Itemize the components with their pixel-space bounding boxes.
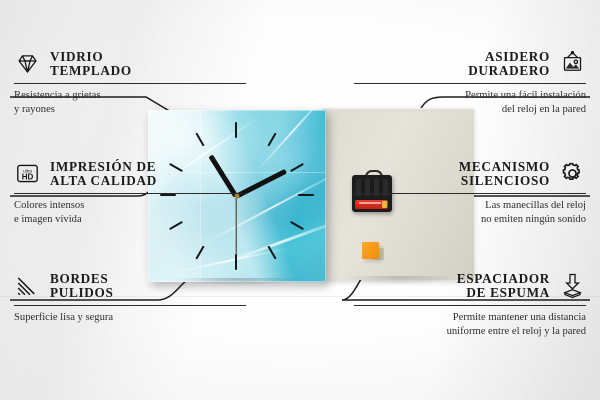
feature-header: ASIDERO DURADERO: [354, 50, 586, 78]
feature-title-line1: ASIDERO: [468, 50, 550, 64]
feature-divider: [354, 193, 586, 194]
feature-header: BORDES PULIDOS: [14, 272, 246, 300]
hanging-picture-frame-icon: [559, 50, 586, 77]
feature-divider: [354, 305, 586, 306]
gear-icon: [559, 160, 586, 187]
feature-title-line1: ESPACIADOR: [457, 272, 550, 286]
feature-title-line1: BORDES: [50, 272, 114, 286]
feature-asidero-duradero: ASIDERO DURADERO Permite una fácil insta…: [354, 50, 586, 116]
feature-subtitle: Resistencia a grietas y rayones: [14, 89, 246, 116]
feature-title-line1: IMPRESIÓN DE: [50, 160, 157, 174]
feature-title-line1: MECANISMO: [459, 160, 550, 174]
feature-subtitle-line1: Permite una fácil instalación: [465, 90, 586, 101]
feature-header: ESPACIADOR DE ESPUMA: [354, 272, 586, 300]
feature-espaciador-espuma: ESPACIADOR DE ESPUMA Permite mantener un…: [354, 272, 586, 338]
feature-mecanismo-silencioso: MECANISMO SILENCIOSO Las manecillas del …: [354, 160, 586, 226]
svg-text:HD: HD: [22, 173, 34, 182]
feature-impresion-alta-calidad: ultra HD IMPRESIÓN DE ALTA CALIDAD Color…: [14, 160, 246, 226]
feature-title-line1: VIDRIO: [50, 50, 132, 64]
feature-title-line2: ALTA CALIDAD: [50, 174, 157, 188]
ultra-hd-badge-icon: ultra HD: [14, 160, 41, 187]
feature-divider: [14, 83, 246, 84]
feature-titles: IMPRESIÓN DE ALTA CALIDAD: [50, 160, 157, 188]
feature-subtitle-line1: Colores intensos: [14, 200, 84, 211]
feature-header: ultra HD IMPRESIÓN DE ALTA CALIDAD: [14, 160, 246, 188]
feature-divider: [14, 305, 246, 306]
feature-subtitle-line1: Resistencia a grietas: [14, 90, 100, 101]
feature-titles: ASIDERO DURADERO: [468, 50, 550, 78]
feature-title-line2: DURADERO: [468, 64, 550, 78]
feature-divider: [14, 193, 246, 194]
diamond-icon: [14, 50, 41, 77]
feature-title-line2: DE ESPUMA: [457, 286, 550, 300]
feature-subtitle-line1: Superficie lisa y segura: [14, 312, 113, 323]
feature-subtitle-line2: e imagen vívida: [14, 214, 82, 225]
feature-header: VIDRIO TEMPLADO: [14, 50, 246, 78]
feature-subtitle-line1: Las manecillas del reloj: [485, 200, 586, 211]
feature-subtitle-line2: y rayones: [14, 104, 55, 115]
feature-title-line2: PULIDOS: [50, 286, 114, 300]
feature-subtitle-line2: del reloj en la pared: [502, 104, 586, 115]
feature-header: MECANISMO SILENCIOSO: [354, 160, 586, 188]
feature-subtitle-line1: Permite mantener una distancia: [453, 312, 586, 323]
feature-titles: BORDES PULIDOS: [50, 272, 114, 300]
polished-edge-icon: [14, 272, 41, 299]
feature-subtitle: Superficie lisa y segura: [14, 311, 246, 325]
arrow-onto-pad-icon: [559, 272, 586, 299]
infographic-canvas: VIDRIO TEMPLADO Resistencia a grietas y …: [0, 0, 600, 400]
feature-subtitle: Colores intensos e imagen vívida: [14, 199, 246, 226]
feature-subtitle: Permite mantener una distancia uniforme …: [354, 311, 586, 338]
feature-divider: [354, 83, 586, 84]
feature-subtitle: Las manecillas del reloj no emiten ningú…: [354, 199, 586, 226]
feature-bordes-pulidos: BORDES PULIDOS Superficie lisa y segura: [14, 272, 246, 325]
feature-title-line2: TEMPLADO: [50, 64, 132, 78]
feature-titles: ESPACIADOR DE ESPUMA: [457, 272, 550, 300]
feature-subtitle: Permite una fácil instalación del reloj …: [354, 89, 586, 116]
feature-vidrio-templado: VIDRIO TEMPLADO Resistencia a grietas y …: [14, 50, 246, 116]
feature-title-line2: SILENCIOSO: [459, 174, 550, 188]
feature-titles: VIDRIO TEMPLADO: [50, 50, 132, 78]
feature-titles: MECANISMO SILENCIOSO: [459, 160, 550, 188]
feature-subtitle-line2: no emiten ningún sonido: [481, 214, 586, 225]
foam-spacer: [362, 242, 379, 259]
feature-subtitle-line2: uniforme entre el reloj y la pared: [447, 326, 586, 337]
